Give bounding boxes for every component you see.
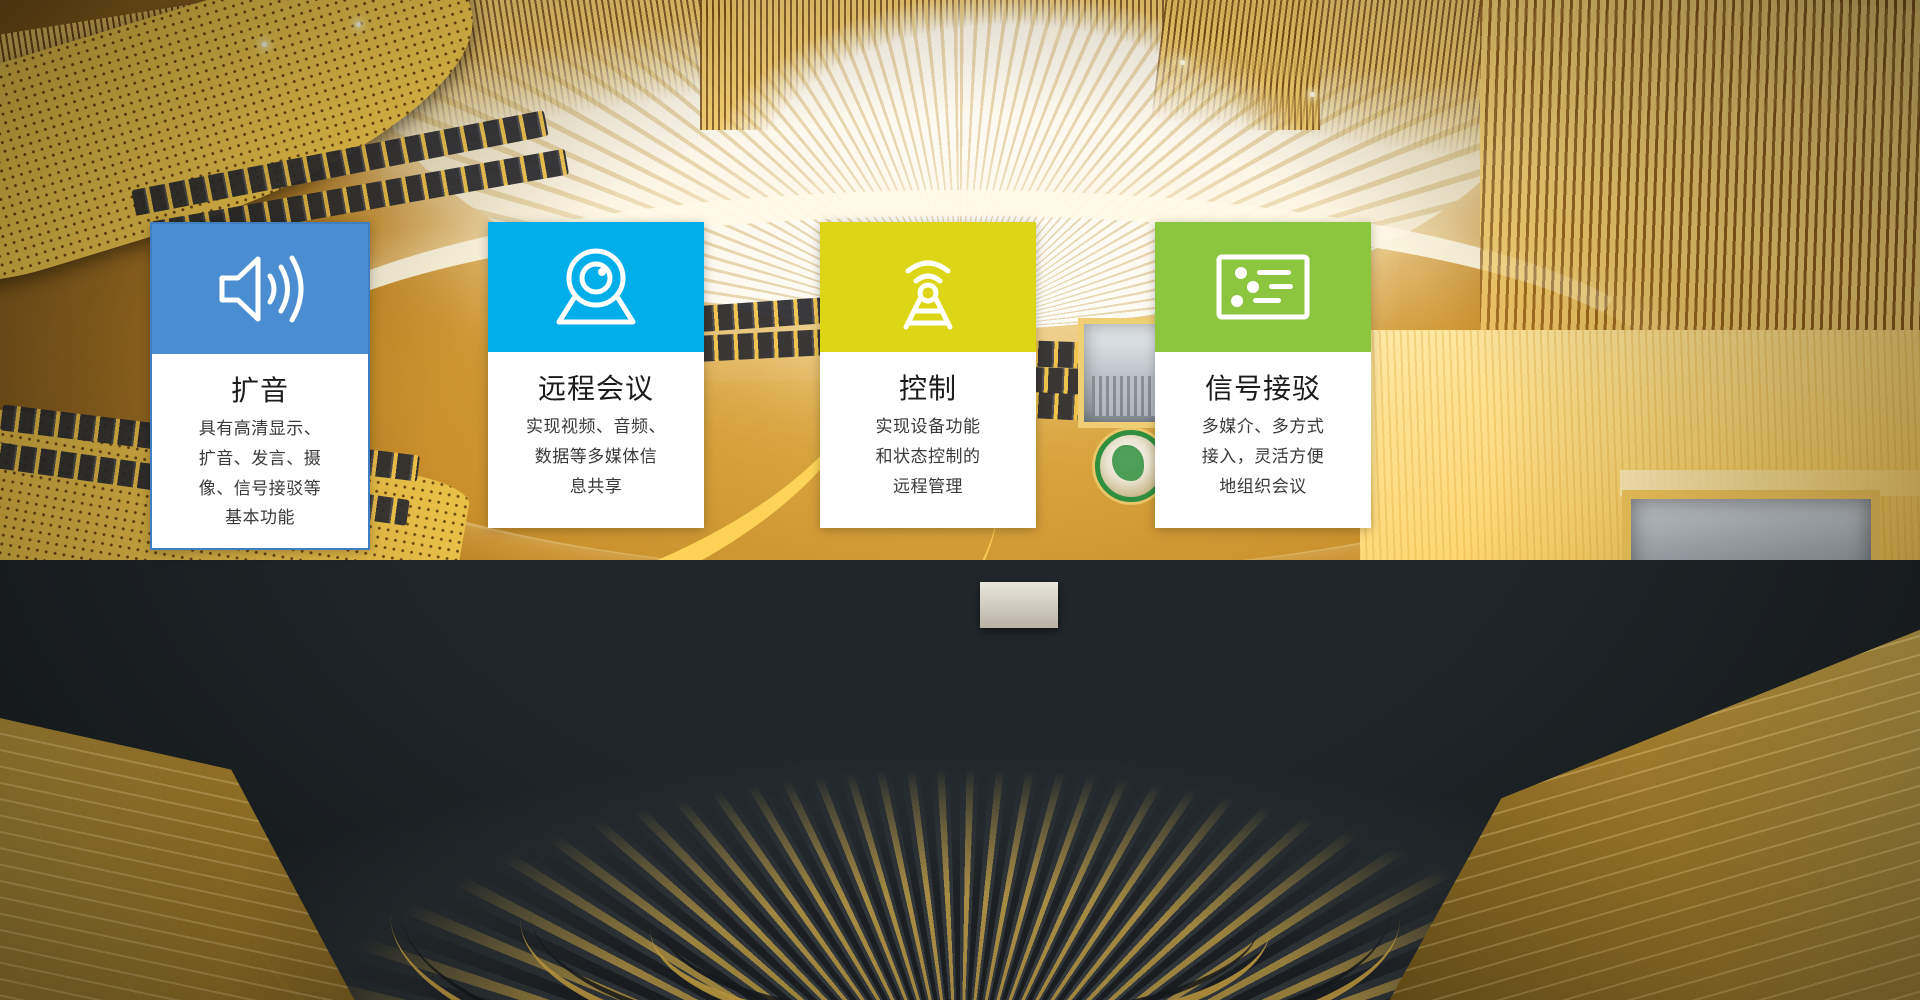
webcam-icon [553,246,639,328]
feature-card-description: 多媒介、多方式 接入，灵活方便 地组织会议 [1202,413,1325,502]
feature-cards-banner: 扩音 具有高清显示、 扩音、发言、摄 像、信号接驳等 基本功能 [0,0,1920,1000]
feature-card-title: 远程会议 [538,372,654,405]
description-line: 地组织会议 [1202,473,1325,503]
description-line: 接入，灵活方便 [1202,443,1325,473]
feature-card-control[interactable]: 控制 实现设备功能 和状态控制的 远程管理 [820,222,1036,528]
feature-card-title: 扩音 [231,374,289,407]
speaker-volume-icon [214,249,306,329]
description-line: 和状态控制的 [876,443,981,473]
description-line: 实现设备功能 [876,413,981,443]
feature-card-description: 实现视频、音频、 数据等多媒体信 息共享 [526,413,666,502]
feature-card-body: 扩音 具有高清显示、 扩音、发言、摄 像、信号接驳等 基本功能 [152,354,368,548]
description-line: 多媒介、多方式 [1202,413,1325,443]
description-line: 具有高清显示、 [199,415,322,445]
feature-card-icon-header [488,222,704,352]
feature-card-description: 实现设备功能 和状态控制的 远程管理 [876,413,981,502]
feature-card-amplification[interactable]: 扩音 具有高清显示、 扩音、发言、摄 像、信号接驳等 基本功能 [150,222,370,550]
feature-card-title: 信号接驳 [1205,372,1321,405]
feature-card-body: 远程会议 实现视频、音频、 数据等多媒体信 息共享 [488,352,704,528]
feature-card-body: 信号接驳 多媒介、多方式 接入，灵活方便 地组织会议 [1155,352,1371,528]
feature-card-signal-access[interactable]: 信号接驳 多媒介、多方式 接入，灵活方便 地组织会议 [1155,222,1371,528]
description-line: 远程管理 [876,473,981,503]
description-line: 实现视频、音频、 [526,413,666,443]
feature-card-description: 具有高清显示、 扩音、发言、摄 像、信号接驳等 基本功能 [199,415,322,534]
feature-card-icon-header [1155,222,1371,352]
description-line: 息共享 [526,473,666,503]
feature-card-title: 控制 [899,372,957,405]
feature-card-icon-header [152,224,368,354]
feature-card-body: 控制 实现设备功能 和状态控制的 远程管理 [820,352,1036,528]
description-line: 基本功能 [199,504,322,534]
feature-card-list: 扩音 具有高清显示、 扩音、发言、摄 像、信号接驳等 基本功能 [0,0,1920,1000]
feature-card-icon-header [820,222,1036,352]
description-line: 扩音、发言、摄 [199,445,322,475]
description-line: 像、信号接驳等 [199,475,322,505]
antenna-tower-icon [890,243,966,331]
description-line: 数据等多媒体信 [526,443,666,473]
signal-panel-icon [1215,251,1311,323]
feature-card-remote-conference[interactable]: 远程会议 实现视频、音频、 数据等多媒体信 息共享 [488,222,704,528]
